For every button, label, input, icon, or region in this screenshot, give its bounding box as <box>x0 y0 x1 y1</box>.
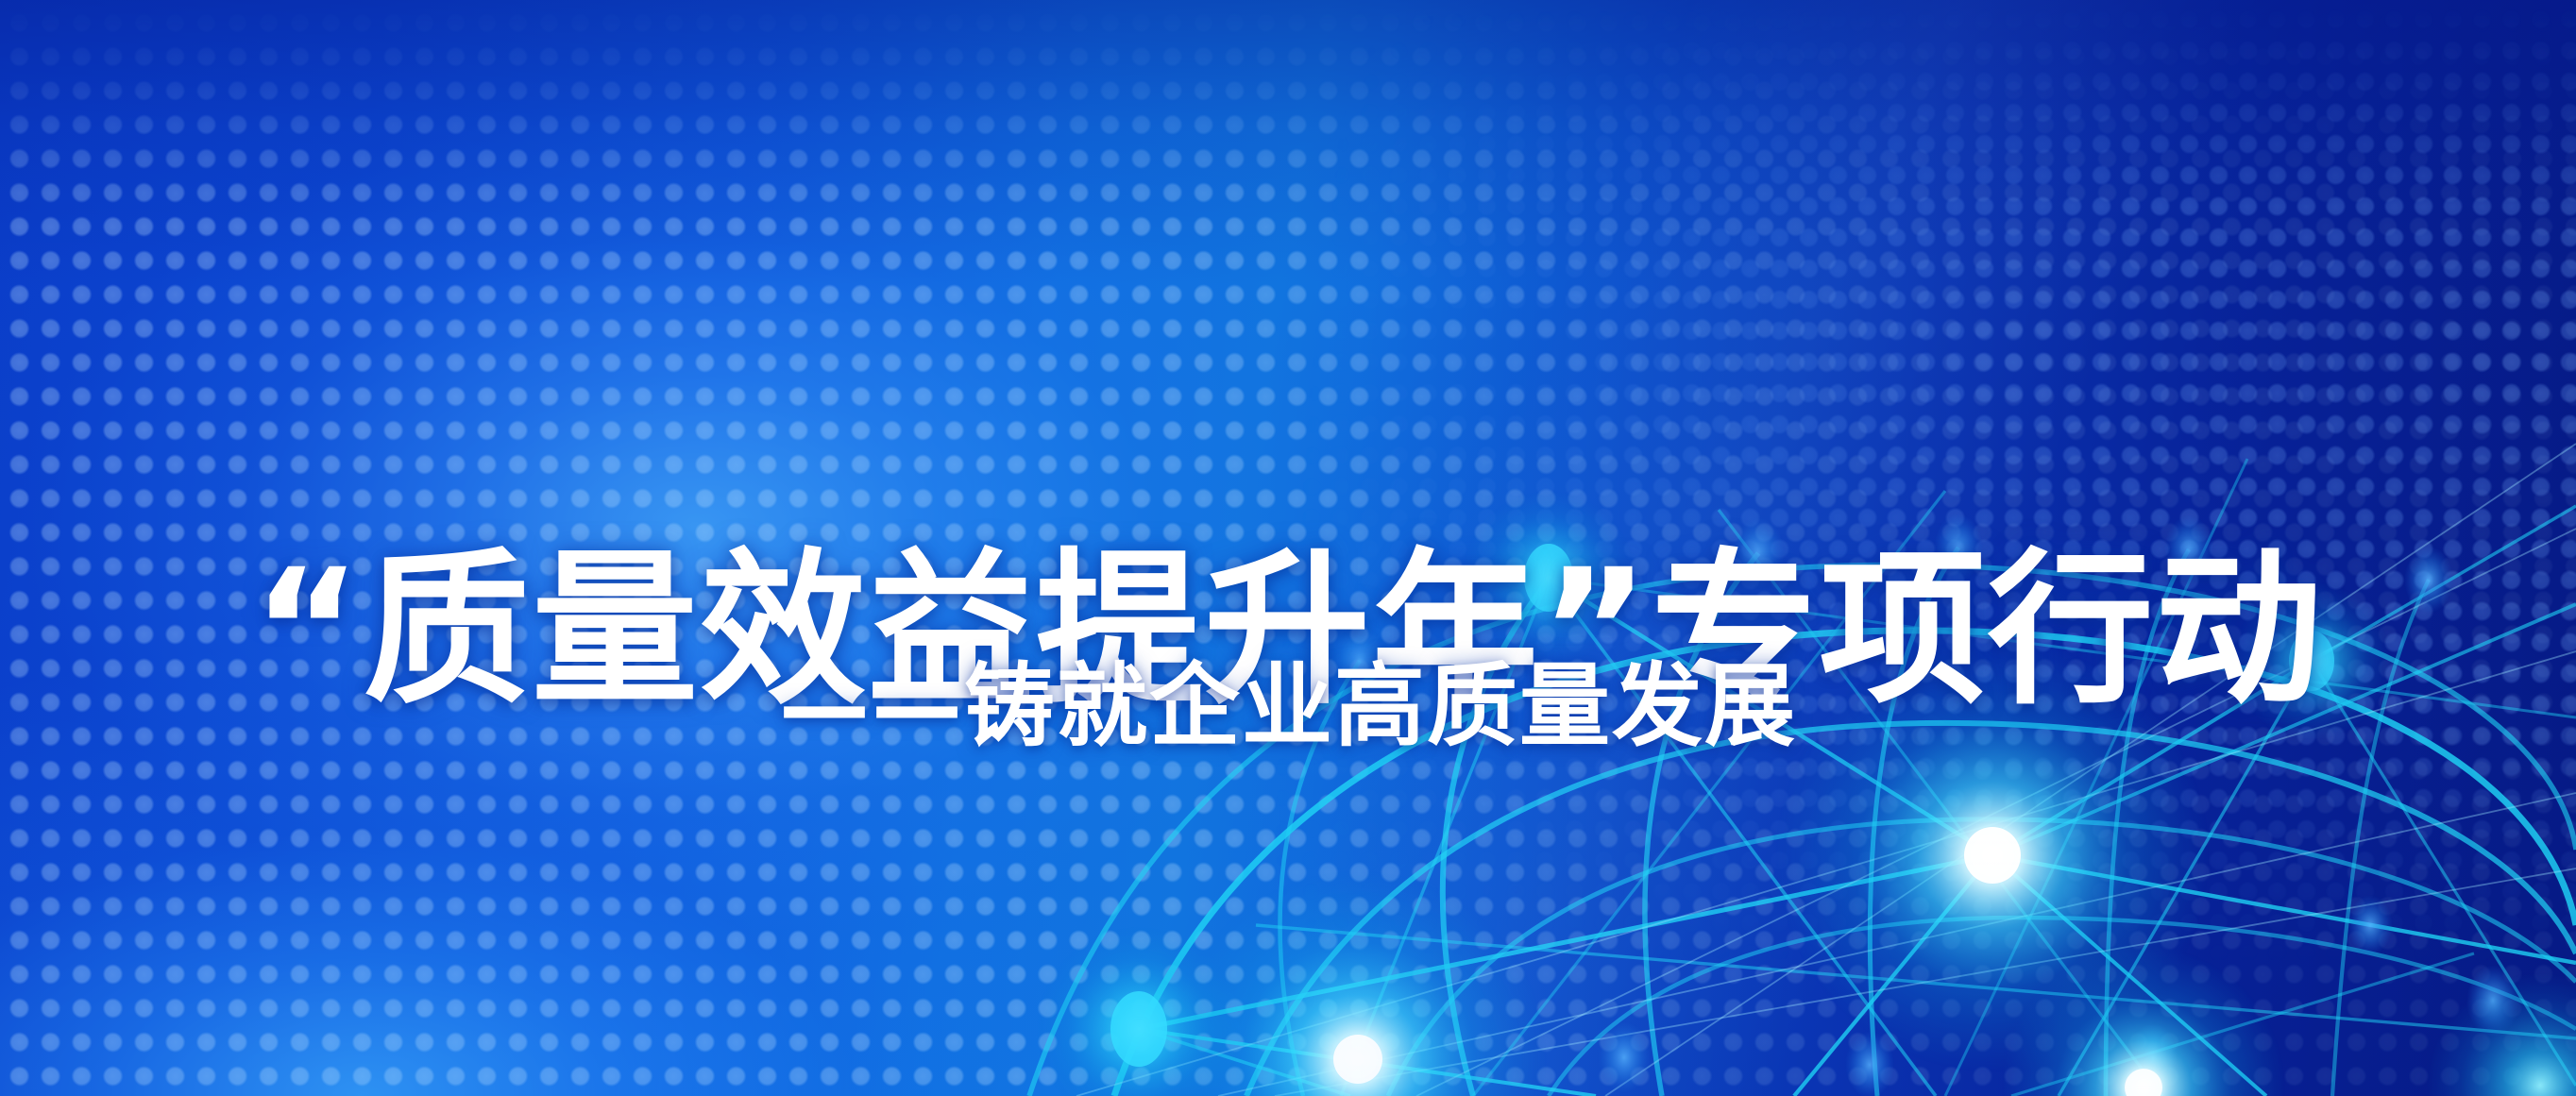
page-subtitle: ——铸就企业高质量发展 <box>0 661 2576 751</box>
banner-root: “质量效益提升年”专项行动 ——铸就企业高质量发展 <box>0 0 2576 1096</box>
